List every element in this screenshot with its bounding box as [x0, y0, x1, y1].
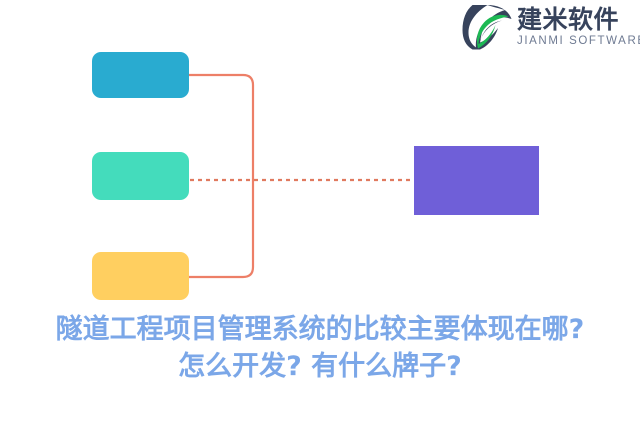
brand-text: 建米软件 JIANMI SOFTWARE	[517, 6, 640, 48]
caption-line-1: 隧道工程项目管理系统的比较主要体现在哪?	[0, 311, 640, 348]
caption-block: 隧道工程项目管理系统的比较主要体现在哪? 怎么开发? 有什么牌子?	[0, 311, 640, 385]
brand-name-cn: 建米软件	[517, 6, 640, 33]
diagram-node-cyan[interactable]	[92, 52, 189, 98]
slide-canvas: 建米软件 JIANMI SOFTWARE 隧道工程项目管理系统的比较主要体现在哪…	[0, 0, 640, 427]
connector-bracket	[189, 75, 253, 277]
brand-logo: 建米软件 JIANMI SOFTWARE	[462, 1, 640, 53]
leaf-swoosh-icon	[462, 3, 512, 51]
brand-name-en: JIANMI SOFTWARE	[517, 34, 640, 48]
diagram-node-mint[interactable]	[92, 152, 189, 200]
diagram-node-amber[interactable]	[92, 252, 189, 300]
diagram-node-purple[interactable]	[414, 146, 539, 215]
caption-line-2: 怎么开发? 有什么牌子?	[0, 348, 640, 385]
